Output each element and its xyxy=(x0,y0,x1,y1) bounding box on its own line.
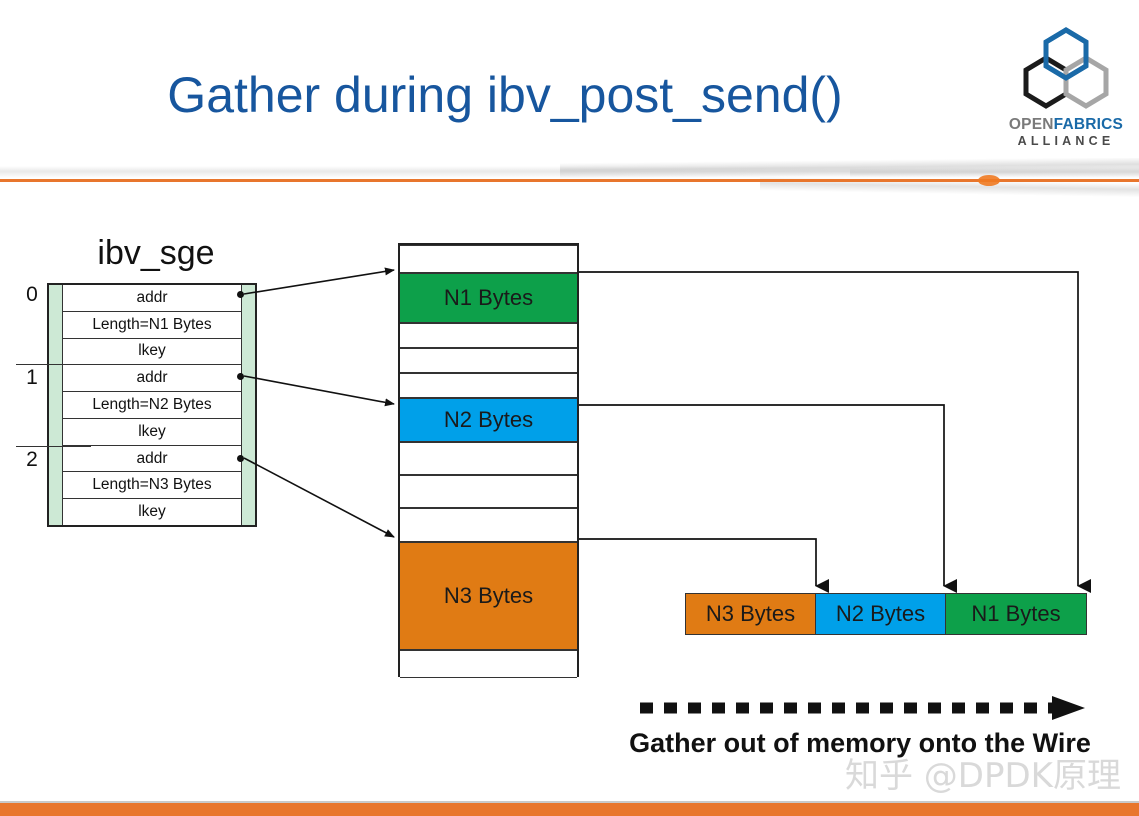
memory-row-empty-8 xyxy=(400,508,577,542)
sge-cell-lkey-0: lkey xyxy=(62,339,242,366)
sge-struct-label: ibv_sge xyxy=(46,234,266,273)
sge-group-separator-1 xyxy=(16,364,91,365)
memory-row-empty-2 xyxy=(400,323,577,348)
sge-cell-length-0: Length=N1 Bytes xyxy=(62,312,242,339)
sge-table: addr Length=N1 Bytes lkey addr Length=N2… xyxy=(47,283,257,527)
memory-row-empty-6 xyxy=(400,442,577,475)
page-title: Gather during ibv_post_send() xyxy=(0,66,1010,124)
logo-wordmark: OPENFABRICS xyxy=(1000,116,1132,134)
wire-segment-n2: N2 Bytes xyxy=(816,594,946,634)
wire-direction-arrow xyxy=(640,696,1085,720)
sge-gutter-right xyxy=(242,285,255,525)
memory-block-n1: N1 Bytes xyxy=(400,273,577,323)
openfabrics-alliance-logo: OPENFABRICS ALLIANCE xyxy=(1000,24,1132,152)
sge-cell-addr-0: addr xyxy=(62,285,242,312)
memory-buffer-column: N1 BytesN2 BytesN3 Bytes xyxy=(398,243,579,677)
logo-word-open: OPEN xyxy=(1009,116,1054,133)
memory-row-empty-0 xyxy=(400,245,577,273)
sge-pointer-dot-2 xyxy=(237,455,244,462)
sge-pointer-dot-1 xyxy=(237,373,244,380)
sge-group-separator-2 xyxy=(16,446,91,447)
memory-row-empty-3 xyxy=(400,348,577,373)
sge-rows: addr Length=N1 Bytes lkey addr Length=N2… xyxy=(62,285,242,525)
sge-pointer-dot-0 xyxy=(237,291,244,298)
sge-gutter-left xyxy=(49,285,62,525)
header-divider xyxy=(0,158,1139,198)
logo-hexagons-icon xyxy=(1000,24,1132,119)
memory-row-empty-10 xyxy=(400,650,577,678)
sge-cell-lkey-2: lkey xyxy=(62,499,242,525)
footer-accent-bar xyxy=(0,803,1139,816)
sge-to-memory-arrows xyxy=(244,270,394,537)
wire-byte-stream: N3 BytesN2 BytesN1 Bytes xyxy=(685,593,1087,635)
logo-word-fabrics: FABRICS xyxy=(1054,116,1123,133)
header-accent-rule xyxy=(0,179,1139,182)
sge-cell-length-1: Length=N2 Bytes xyxy=(62,392,242,419)
sge-index-1: 1 xyxy=(22,366,42,390)
sge-cell-addr-2: addr xyxy=(62,446,242,473)
wire-segment-n1: N1 Bytes xyxy=(946,594,1086,634)
watermark: 知乎 @DPDK原理 xyxy=(845,748,1121,797)
sge-cell-length-2: Length=N3 Bytes xyxy=(62,472,242,499)
memory-block-n3: N3 Bytes xyxy=(400,542,577,650)
logo-word-alliance: ALLIANCE xyxy=(1000,134,1132,148)
sge-cell-addr-1: addr xyxy=(62,365,242,392)
wire-segment-n3: N3 Bytes xyxy=(686,594,816,634)
sge-cell-lkey-1: lkey xyxy=(62,419,242,446)
sge-index-0: 0 xyxy=(22,283,42,307)
memory-to-wire-routing xyxy=(579,272,1078,586)
memory-block-n2: N2 Bytes xyxy=(400,398,577,442)
memory-row-empty-7 xyxy=(400,475,577,508)
sge-index-2: 2 xyxy=(22,448,42,472)
memory-row-empty-4 xyxy=(400,373,577,398)
